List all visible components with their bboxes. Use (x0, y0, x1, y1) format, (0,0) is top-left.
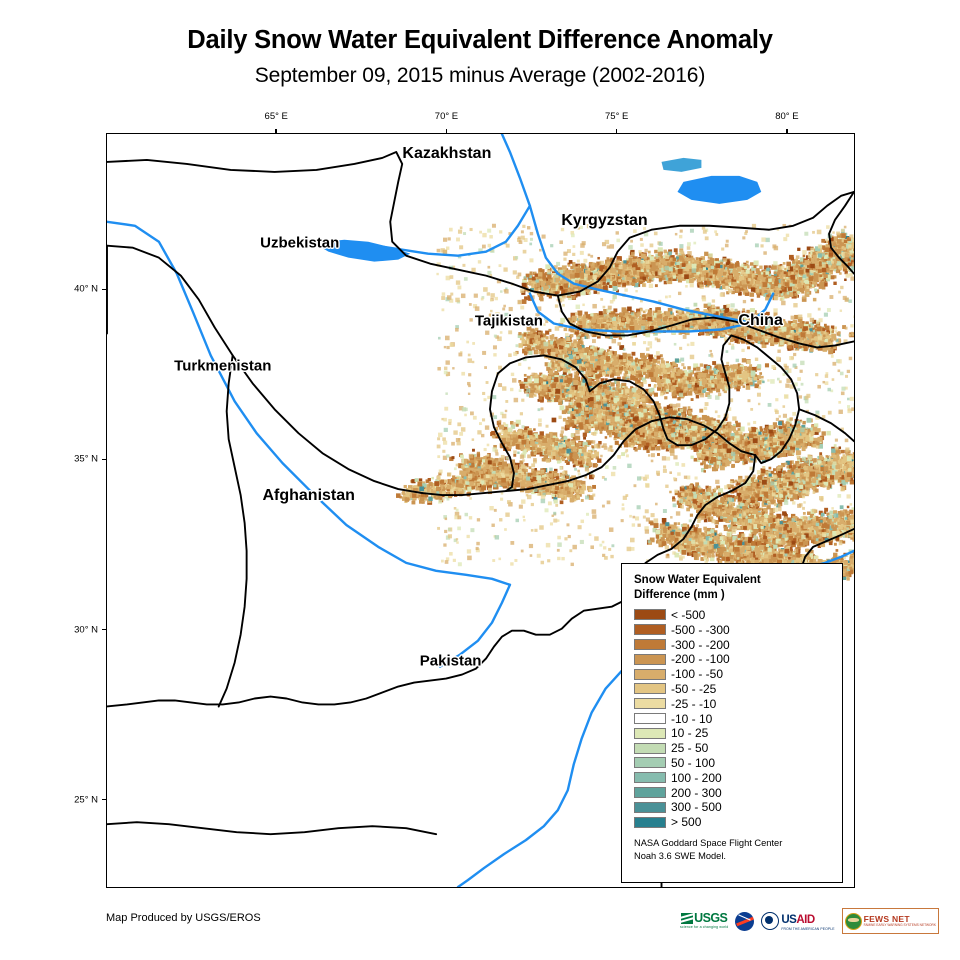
legend-title: Snow Water Equivalent Difference (mm ) (634, 573, 832, 604)
legend-class-list: < -500-500 - -300-300 - -200-200 - -100-… (634, 608, 832, 830)
lon-tick-label: 65° E (265, 111, 288, 122)
usgs-wordmark: USGS (694, 912, 727, 925)
legend-class-label: 25 - 50 (671, 742, 708, 754)
legend-class-label: -10 - 10 (671, 713, 712, 725)
legend-class-label: 10 - 25 (671, 727, 708, 739)
lon-tick-label: 75° E (605, 111, 628, 122)
legend-row: 200 - 300 (634, 785, 832, 800)
legend-row: 50 - 100 (634, 756, 832, 771)
legend-color-swatch (634, 609, 666, 620)
legend-color-swatch (634, 713, 666, 724)
usaid-tagline: FROM THE AMERICAN PEOPLE (781, 928, 834, 931)
legend-source-text: NASA Goddard Space Flight Center Noah 3.… (634, 837, 832, 863)
legend-class-label: -500 - -300 (671, 624, 730, 636)
legend-class-label: -100 - -50 (671, 668, 723, 680)
usaid-word-aid: AID (796, 914, 814, 926)
footer-logo-strip: USGS science for a changing world USAID … (680, 908, 939, 934)
usgs-logo[interactable]: USGS science for a changing world (680, 910, 728, 932)
legend-row: 100 - 200 (634, 770, 832, 785)
usaid-seal-icon (761, 912, 779, 930)
usaid-word-us: US (781, 914, 796, 926)
legend-class-label: > 500 (671, 816, 701, 828)
legend-row: -300 - -200 (634, 637, 832, 652)
legend-class-label: -200 - -100 (671, 653, 730, 665)
legend-class-label: 200 - 300 (671, 787, 722, 799)
legend-color-swatch (634, 669, 666, 680)
nasa-logo[interactable] (735, 910, 754, 932)
legend-color-swatch (634, 743, 666, 754)
legend-color-swatch (634, 772, 666, 783)
usgs-mark-icon (681, 913, 693, 924)
lat-tick-label: 40° N (58, 284, 98, 295)
legend-row: -200 - -100 (634, 652, 832, 667)
legend-row: -10 - 10 (634, 711, 832, 726)
legend-class-label: 100 - 200 (671, 772, 722, 784)
usgs-tagline: science for a changing world (680, 926, 728, 930)
legend-row: > 500 (634, 815, 832, 830)
legend-class-label: -25 - -10 (671, 698, 716, 710)
lat-tick-label: 25° N (58, 794, 98, 805)
fewsnet-wordmark: FEWS NET (864, 915, 936, 924)
legend-row: -50 - -25 (634, 682, 832, 697)
legend-class-label: -50 - -25 (671, 683, 716, 695)
legend-row: -100 - -50 (634, 667, 832, 682)
footer-credit: Map Produced by USGS/EROS (106, 912, 261, 924)
legend-color-swatch (634, 728, 666, 739)
lat-tick-label: 30° N (58, 624, 98, 635)
title-block: Daily Snow Water Equivalent Difference A… (0, 26, 960, 88)
legend-color-swatch (634, 654, 666, 665)
swe-anomaly-raster (396, 224, 854, 590)
legend-color-swatch (634, 787, 666, 798)
lon-tick-label: 70° E (435, 111, 458, 122)
fewsnet-globe-icon (845, 913, 862, 930)
map-canvas[interactable]: KazakhstanUzbekistanKyrgyzstanTajikistan… (106, 133, 855, 888)
legend-class-label: 50 - 100 (671, 757, 715, 769)
nasa-meatball-icon (735, 912, 754, 931)
legend-color-swatch (634, 802, 666, 813)
lat-tick-label: 35° N (58, 454, 98, 465)
legend-color-swatch (634, 757, 666, 768)
usaid-logo[interactable]: USAID FROM THE AMERICAN PEOPLE (761, 910, 834, 932)
legend-color-swatch (634, 639, 666, 650)
legend-row: 25 - 50 (634, 741, 832, 756)
legend-row: < -500 (634, 608, 832, 623)
page-subtitle: September 09, 2015 minus Average (2002-2… (0, 64, 960, 88)
fewsnet-tagline: FAMINE EARLY WARNING SYSTEMS NETWORK (864, 924, 936, 927)
legend-row: 10 - 25 (634, 726, 832, 741)
legend-panel[interactable]: Snow Water Equivalent Difference (mm ) <… (621, 563, 843, 883)
legend-class-label: 300 - 500 (671, 801, 722, 813)
page-title: Daily Snow Water Equivalent Difference A… (0, 26, 960, 55)
fewsnet-logo[interactable]: FEWS NET FAMINE EARLY WARNING SYSTEMS NE… (842, 908, 939, 934)
legend-color-swatch (634, 817, 666, 828)
legend-color-swatch (634, 698, 666, 709)
legend-class-label: -300 - -200 (671, 639, 730, 651)
legend-row: -25 - -10 (634, 696, 832, 711)
legend-color-swatch (634, 683, 666, 694)
legend-row: -500 - -300 (634, 622, 832, 637)
lon-tick-label: 80° E (775, 111, 798, 122)
legend-color-swatch (634, 624, 666, 635)
legend-class-label: < -500 (671, 609, 705, 621)
legend-row: 300 - 500 (634, 800, 832, 815)
